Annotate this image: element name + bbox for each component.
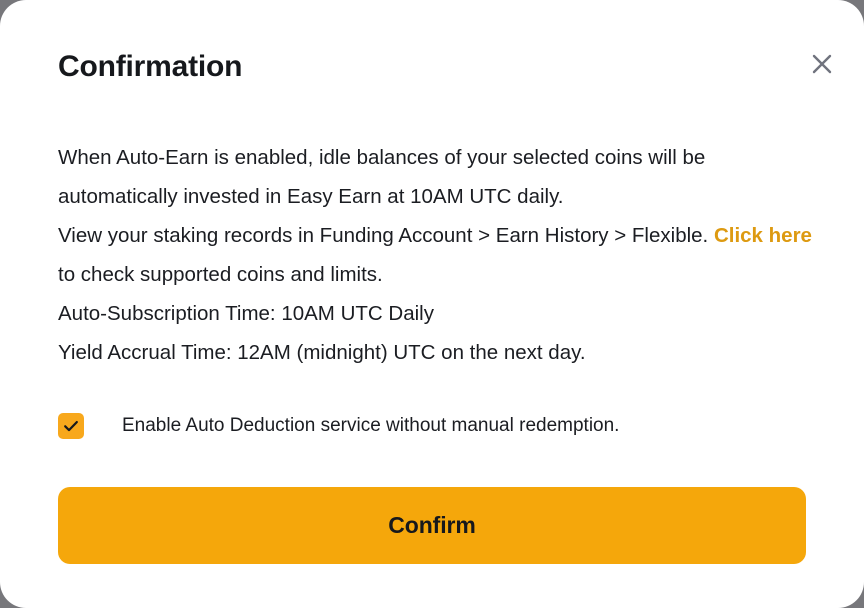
modal-header: Confirmation	[58, 44, 824, 90]
description-part-1: When Auto-Earn is enabled, idle balances…	[58, 146, 714, 247]
auto-deduction-checkbox-row[interactable]: Enable Auto Deduction service without ma…	[58, 413, 619, 439]
auto-deduction-checkbox[interactable]	[58, 413, 84, 439]
auto-deduction-checkbox-label[interactable]: Enable Auto Deduction service without ma…	[122, 413, 619, 439]
page-title: Confirmation	[58, 44, 242, 90]
description-text: When Auto-Earn is enabled, idle balances…	[58, 138, 818, 372]
close-button[interactable]	[802, 44, 842, 84]
modal-body: When Auto-Earn is enabled, idle balances…	[58, 138, 818, 372]
check-icon	[62, 417, 80, 435]
confirmation-modal: Confirmation When Auto-Earn is enabled, …	[0, 0, 864, 608]
close-icon	[809, 51, 835, 77]
click-here-link[interactable]: Click here	[714, 224, 812, 247]
confirm-button[interactable]: Confirm	[58, 487, 806, 564]
